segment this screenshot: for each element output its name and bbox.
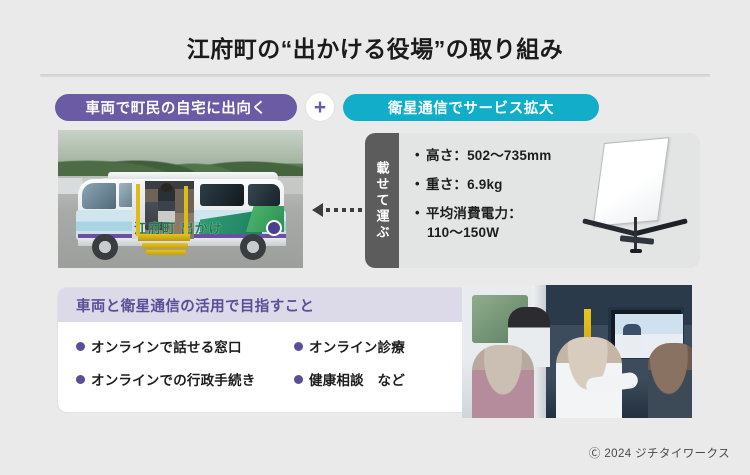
spec-item-text: 高さ：502〜735mm (426, 148, 551, 163)
photo-resident-1 (472, 345, 534, 418)
van-lift-platform (138, 234, 190, 241)
spec-list: 高さ：502〜735mm 重さ：6.9kg 平均消費電力： 110〜150W (399, 133, 700, 268)
spec-item-text: 平均消費電力： (426, 206, 522, 221)
van-rear-window (200, 184, 244, 206)
bullet-icon (76, 375, 85, 384)
goals-panel: 車両と衛星通信の活用で目指すこと オンラインで話せる窓口 オンラインでの行政手続… (58, 288, 488, 412)
van-ramp-1 (142, 243, 188, 249)
van-ramp-2 (146, 250, 186, 255)
list-item-label: オンラインでの行政手続き (91, 369, 255, 389)
list-item: オンラインでの行政手続き (76, 369, 294, 389)
copyright-credit: Ⓒ 2024 ジチタイワークス (589, 445, 730, 461)
vehicle-photo: 江府町 出かけ (58, 130, 303, 268)
van-handrail-1 (136, 184, 140, 236)
van-staff-head (161, 183, 172, 192)
dish-foot (630, 249, 642, 253)
dish-arm (634, 217, 637, 251)
dish-leg (620, 235, 654, 245)
page-title: 江府町の“出かける役場”の取り組み (0, 30, 750, 64)
spec-item-text: 重さ：6.9kg (426, 177, 503, 192)
online-consultation-photo (462, 285, 692, 418)
list-item: オンラインで話せる窓口 (76, 336, 294, 356)
spec-panel-tab: 載せて運ぶ (365, 133, 399, 268)
van-rear-wheel (240, 234, 266, 260)
list-item-label: 健康相談 など (309, 369, 405, 389)
badge-vehicle: 車両で町民の自宅に出向く (55, 94, 297, 121)
satellite-dish-icon (580, 139, 692, 261)
goals-column-1: オンラインで話せる窓口 オンラインでの行政手続き (76, 336, 294, 402)
plus-icon: + (306, 93, 334, 121)
van-rear-window-2 (248, 184, 280, 206)
satellite-spec-panel: 載せて運ぶ 高さ：502〜735mm 重さ：6.9kg 平均消費電力： 110〜… (365, 133, 700, 268)
goals-panel-body: オンラインで話せる窓口 オンラインでの行政手続き オンライン診療 健康相談 など (58, 322, 488, 402)
arrow-head-icon (312, 203, 323, 217)
bullet-icon (76, 342, 85, 351)
transport-arrow-icon (312, 203, 368, 217)
arrow-dotted-trail (326, 208, 368, 212)
badge-satellite: 衛星通信でサービス拡大 (343, 94, 599, 121)
van-windshield (82, 183, 116, 209)
photo-resident-3 (648, 343, 692, 418)
photo-remote-doctor (623, 324, 641, 352)
spec-panel-tab-label: 載せて運ぶ (376, 161, 389, 241)
van-illustration: 江府町 出かけ (72, 172, 290, 254)
van-front-wheel (92, 234, 118, 260)
list-item: 健康相談 など (294, 369, 405, 389)
badge-row: 車両で町民の自宅に出向く + 衛星通信でサービス拡大 (55, 92, 700, 122)
dish-panel (593, 137, 670, 227)
goals-column-2: オンライン診療 健康相談 など (294, 336, 405, 402)
bullet-icon (294, 342, 303, 351)
goals-panel-header: 車両と衛星通信の活用で目指すこと (58, 288, 488, 322)
title-divider (40, 74, 710, 77)
list-item: オンライン診療 (294, 336, 405, 356)
list-item-label: オンライン診療 (309, 336, 405, 356)
goals-panel-title: 車両と衛星通信の活用で目指すこと (76, 295, 314, 316)
bullet-icon (294, 375, 303, 384)
van-logo-icon (266, 220, 282, 236)
list-item-label: オンラインで話せる窓口 (91, 336, 242, 356)
van-handrail-2 (184, 186, 188, 234)
